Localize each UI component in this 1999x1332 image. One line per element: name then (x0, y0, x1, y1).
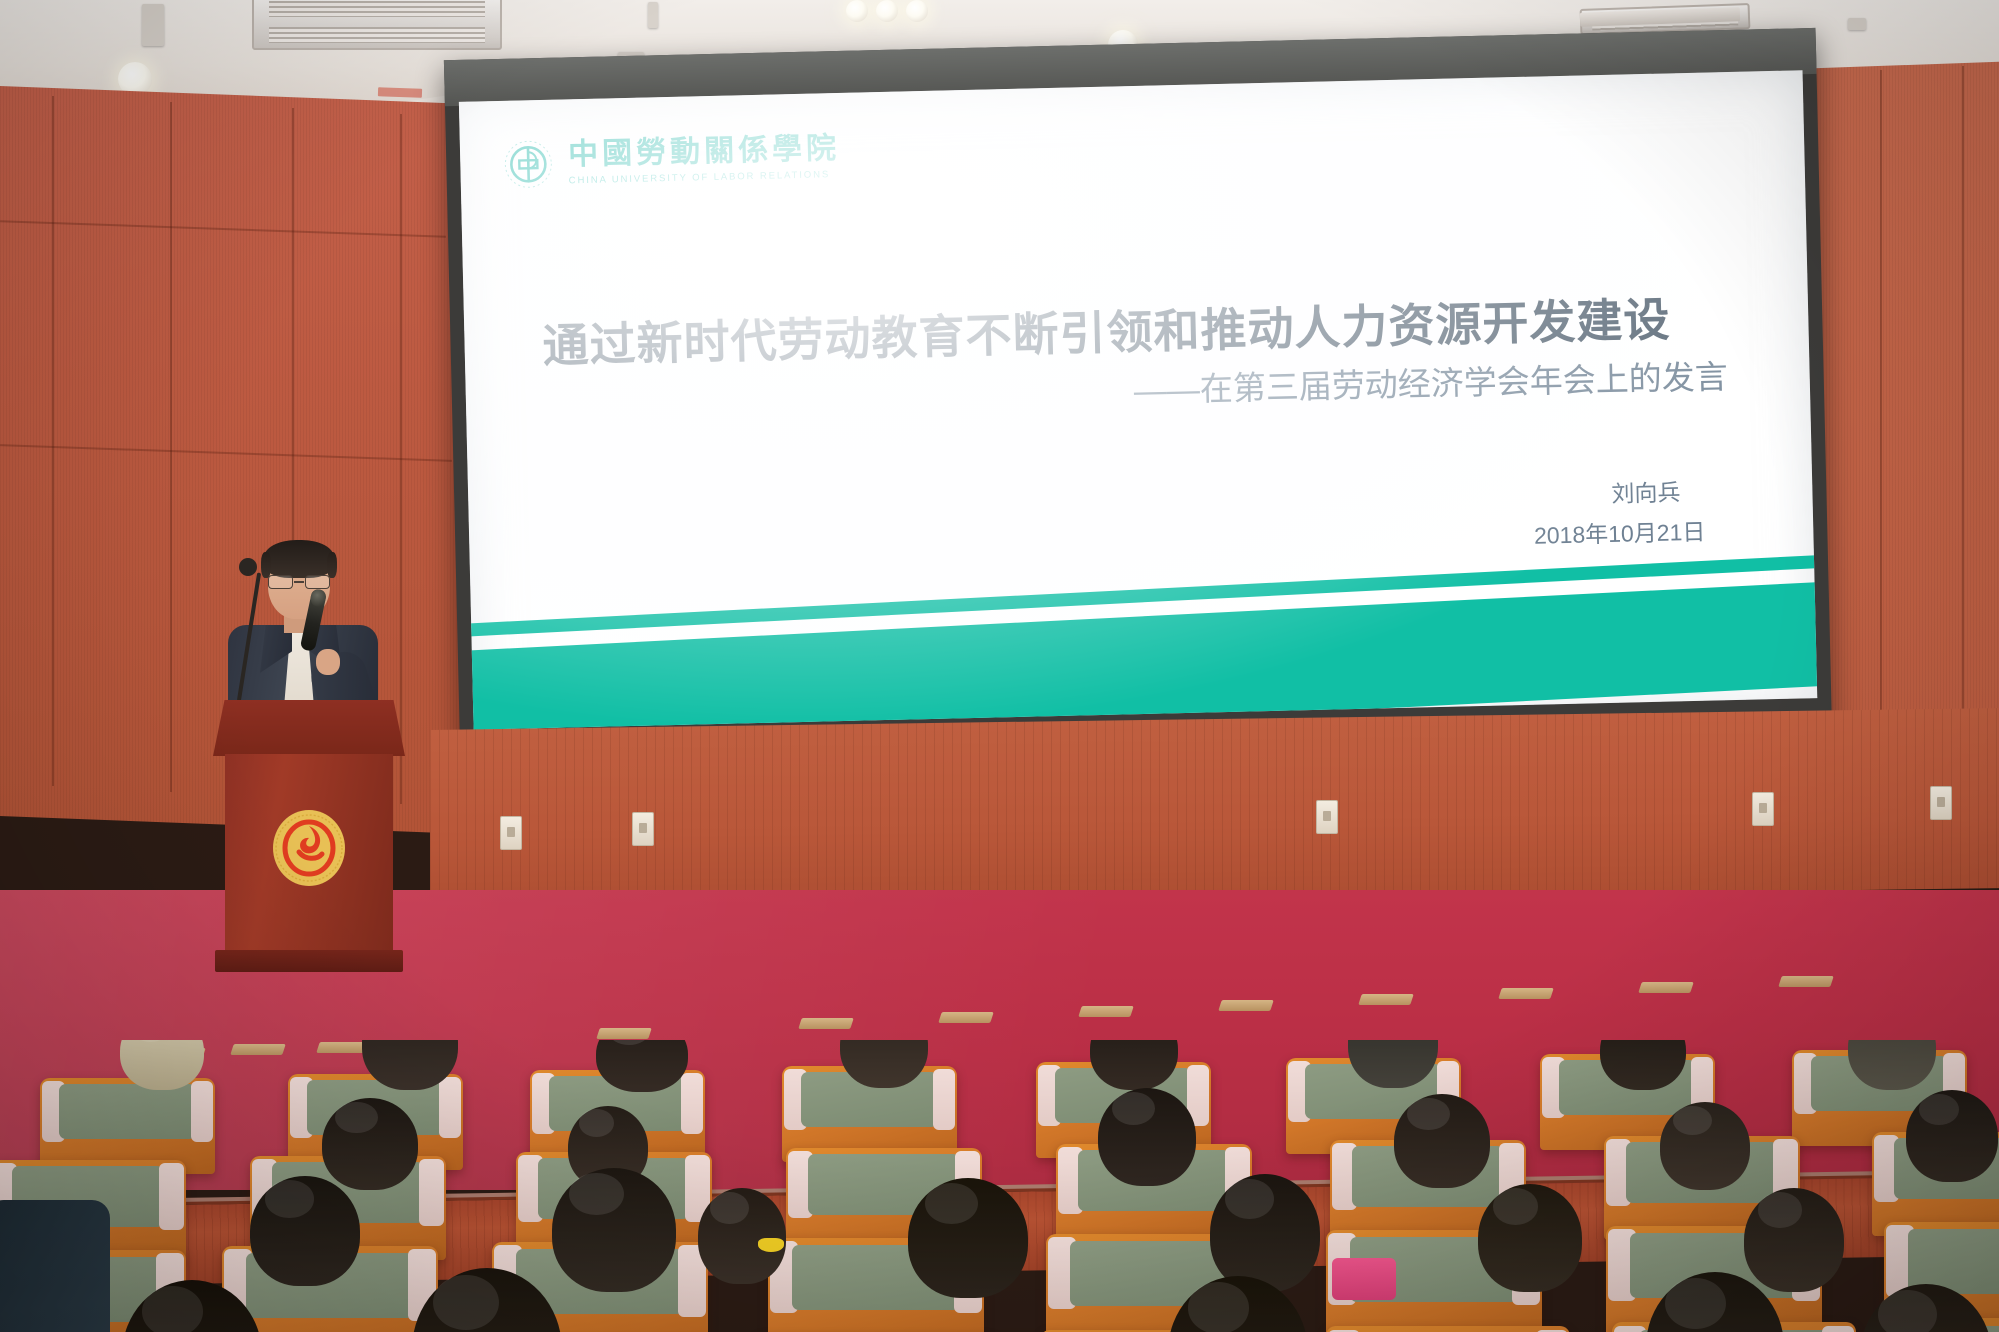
gooseneck-microphone-head (239, 558, 257, 576)
logo-chinese-name: 中國勞動關係學院 (568, 134, 841, 170)
floor-outlet-plate (1218, 1000, 1274, 1011)
presenter-hair (264, 540, 334, 578)
floor-outlet-plate (596, 1028, 652, 1039)
wall-panel-seam (1962, 66, 1964, 786)
floor-outlet-plate (1358, 994, 1414, 1005)
floor-outlet-plate (1778, 976, 1834, 987)
seat-trim (419, 1159, 444, 1226)
recessed-downlight-icon (846, 0, 868, 22)
floor-outlet-plate (1498, 988, 1554, 999)
attendee-shoulder (0, 1200, 110, 1332)
floor-outlet-plate (1078, 1006, 1134, 1017)
ceiling-spotlight-icon (648, 2, 658, 28)
podium-base (215, 950, 403, 972)
seat-trim (159, 1163, 184, 1230)
floor-outlet-plate (938, 1012, 994, 1023)
logo-english-name: CHINA UNIVERSITY OF LABOR RELATIONS (569, 170, 841, 186)
slide-presenter-name: 刘向兵 (1611, 473, 1681, 509)
attendee-head (1660, 1102, 1750, 1190)
attendee-head (322, 1098, 418, 1190)
wall-panel-seam (1880, 70, 1882, 790)
audience-seating (0, 1040, 1999, 1332)
ceiling-spotlight-icon (1848, 18, 1866, 30)
wall-outlet-icon (632, 812, 654, 846)
wall-outlet-icon (1316, 800, 1338, 834)
seat-trim (1822, 1326, 1854, 1332)
slide-logo: 中國勞動關係學院 CHINA UNIVERSITY OF LABOR RELAT… (502, 131, 841, 191)
wall-panel-seam (52, 96, 54, 786)
wall-outlet-icon (1930, 786, 1952, 820)
presenter-hand (316, 649, 340, 675)
logo-text: 中國勞動關係學院 CHINA UNIVERSITY OF LABOR RELAT… (568, 134, 841, 186)
seat-cushion (59, 1084, 196, 1140)
glasses-lens-left (268, 575, 293, 589)
recessed-downlight-icon (876, 0, 898, 22)
attendee-head (1098, 1088, 1196, 1186)
podium-lectern-top (213, 700, 405, 756)
attendee-head (1394, 1094, 1490, 1188)
university-phoenix-emblem-icon (269, 808, 349, 888)
attendee-head (698, 1188, 786, 1284)
glasses-bridge (294, 581, 304, 583)
glasses-lens-right (305, 575, 330, 589)
seat-trim (191, 1081, 214, 1142)
wall-sign-mark (378, 87, 422, 98)
attendee-head (552, 1168, 676, 1292)
attendee-head (1744, 1188, 1844, 1292)
floor-outlet-plate (1638, 982, 1694, 993)
attendee-head (908, 1178, 1028, 1298)
seat-trim (933, 1069, 956, 1130)
attendee-head (1478, 1184, 1582, 1292)
glasses-icon (268, 575, 330, 590)
wall-panel-seam (170, 102, 172, 792)
ceiling-spotlight-icon (142, 4, 164, 46)
pink-bag (1332, 1258, 1396, 1300)
auditorium-scene: 中國勞動關係學院 CHINA UNIVERSITY OF LABOR RELAT… (0, 0, 1999, 1332)
projection-screen[interactable]: 中國勞動關係學院 CHINA UNIVERSITY OF LABOR RELAT… (444, 28, 1832, 766)
university-seal-icon (502, 138, 555, 191)
slide-date: 2018年10月21日 (1534, 513, 1706, 551)
seat-trim (681, 1073, 704, 1134)
attendee-head (1210, 1174, 1320, 1292)
wall-outlet-icon (1752, 792, 1774, 826)
auditorium-seat[interactable] (1326, 1326, 1570, 1332)
attendee-head (1906, 1090, 1998, 1182)
hair-clip-icon (758, 1238, 784, 1252)
air-conditioning-vent-icon (252, 0, 502, 50)
attendee-head (250, 1176, 360, 1286)
slide-surface[interactable]: 中國勞動關係學院 CHINA UNIVERSITY OF LABOR RELAT… (459, 70, 1817, 729)
recessed-downlight-icon (906, 0, 928, 22)
podium (213, 700, 405, 978)
wall-outlet-icon (500, 816, 522, 850)
floor-outlet-plate (798, 1018, 854, 1029)
seat-trim (439, 1077, 462, 1138)
